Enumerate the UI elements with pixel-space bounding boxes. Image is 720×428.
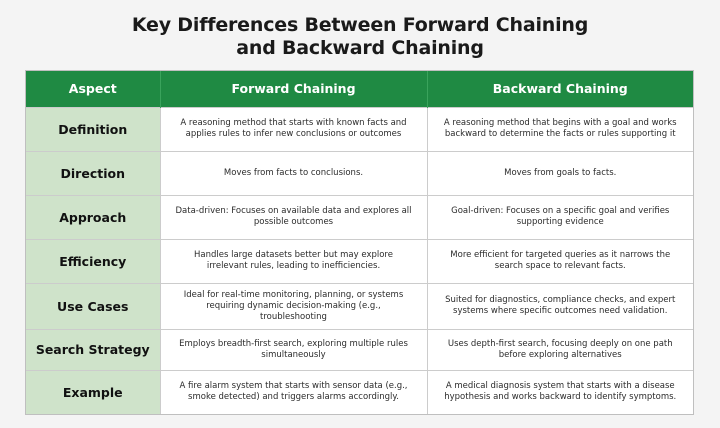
table-body: Definition A reasoning method that start… xyxy=(26,107,693,414)
cell-forward-search-strategy: Employs breadth-first search, exploring … xyxy=(160,329,427,370)
table-row: Search Strategy Employs breadth-first se… xyxy=(26,329,693,370)
column-header-backward-chaining: Backward Chaining xyxy=(427,71,693,107)
page-title-line-1: Key Differences Between Forward Chaining xyxy=(0,14,720,37)
cell-backward-example: A medical diagnosis system that starts w… xyxy=(427,370,693,414)
cell-backward-efficiency: More efficient for targeted queries as i… xyxy=(427,239,693,283)
table-row: Efficiency Handles large datasets better… xyxy=(26,239,693,283)
table-row: Definition A reasoning method that start… xyxy=(26,107,693,151)
row-label-example: Example xyxy=(26,370,160,414)
comparison-table-container: Aspect Forward Chaining Backward Chainin… xyxy=(25,70,694,415)
table-header-row: Aspect Forward Chaining Backward Chainin… xyxy=(26,71,693,107)
table-row: Approach Data-driven: Focuses on availab… xyxy=(26,195,693,239)
comparison-page: Key Differences Between Forward Chaining… xyxy=(0,0,720,428)
row-label-efficiency: Efficiency xyxy=(26,239,160,283)
comparison-table: Aspect Forward Chaining Backward Chainin… xyxy=(26,71,693,414)
row-label-search-strategy: Search Strategy xyxy=(26,329,160,370)
cell-forward-use-cases: Ideal for real-time monitoring, planning… xyxy=(160,283,427,329)
cell-forward-efficiency: Handles large datasets better but may ex… xyxy=(160,239,427,283)
cell-backward-use-cases: Suited for diagnostics, compliance check… xyxy=(427,283,693,329)
row-label-approach: Approach xyxy=(26,195,160,239)
cell-backward-search-strategy: Uses depth-first search, focusing deeply… xyxy=(427,329,693,370)
cell-forward-definition: A reasoning method that starts with know… xyxy=(160,107,427,151)
page-title: Key Differences Between Forward Chaining… xyxy=(0,0,720,60)
table-row: Use Cases Ideal for real-time monitoring… xyxy=(26,283,693,329)
column-header-forward-chaining: Forward Chaining xyxy=(160,71,427,107)
table-row: Example A fire alarm system that starts … xyxy=(26,370,693,414)
cell-backward-approach: Goal-driven: Focuses on a specific goal … xyxy=(427,195,693,239)
cell-forward-approach: Data-driven: Focuses on available data a… xyxy=(160,195,427,239)
cell-backward-definition: A reasoning method that begins with a go… xyxy=(427,107,693,151)
column-header-aspect: Aspect xyxy=(26,71,160,107)
table-header: Aspect Forward Chaining Backward Chainin… xyxy=(26,71,693,107)
cell-backward-direction: Moves from goals to facts. xyxy=(427,151,693,195)
cell-forward-example: A fire alarm system that starts with sen… xyxy=(160,370,427,414)
page-title-line-2: and Backward Chaining xyxy=(0,37,720,60)
row-label-direction: Direction xyxy=(26,151,160,195)
row-label-definition: Definition xyxy=(26,107,160,151)
cell-forward-direction: Moves from facts to conclusions. xyxy=(160,151,427,195)
row-label-use-cases: Use Cases xyxy=(26,283,160,329)
table-row: Direction Moves from facts to conclusion… xyxy=(26,151,693,195)
